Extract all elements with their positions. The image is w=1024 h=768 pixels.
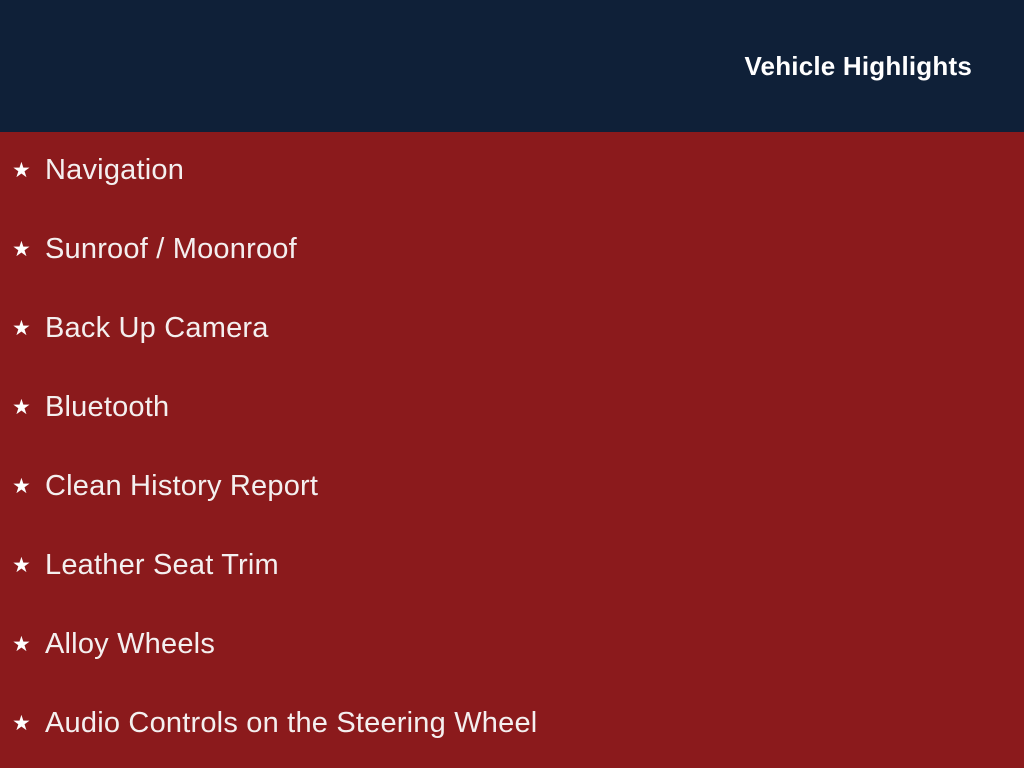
list-item: ★ Back Up Camera <box>0 308 1024 348</box>
star-icon: ★ <box>12 160 30 181</box>
star-icon: ★ <box>12 239 30 260</box>
vehicle-highlights-list: ★ Navigation ★ Sunroof / Moonroof ★ Back… <box>0 132 1024 768</box>
highlight-label: Leather Seat Trim <box>45 550 279 580</box>
highlight-label: Audio Controls on the Steering Wheel <box>45 708 537 738</box>
list-item: ★ Navigation <box>0 150 1024 190</box>
star-icon: ★ <box>12 318 30 339</box>
list-item: ★ Clean History Report <box>0 466 1024 506</box>
star-icon: ★ <box>12 555 30 576</box>
highlight-label: Clean History Report <box>45 471 318 501</box>
star-icon: ★ <box>12 713 30 734</box>
page-title: Vehicle Highlights <box>744 53 972 79</box>
list-item: ★ Audio Controls on the Steering Wheel <box>0 703 1024 743</box>
list-item: ★ Sunroof / Moonroof <box>0 229 1024 269</box>
slide-header: Vehicle Highlights <box>0 0 1024 132</box>
list-item: ★ Leather Seat Trim <box>0 545 1024 585</box>
star-icon: ★ <box>12 476 30 497</box>
list-item: ★ Bluetooth <box>0 387 1024 427</box>
highlight-label: Sunroof / Moonroof <box>45 234 297 264</box>
highlight-label: Bluetooth <box>45 392 169 422</box>
star-icon: ★ <box>12 634 30 655</box>
highlight-label: Alloy Wheels <box>45 629 215 659</box>
vehicle-highlights-slide: Vehicle Highlights ★ Navigation ★ Sunroo… <box>0 0 1024 768</box>
highlight-label: Back Up Camera <box>45 313 269 343</box>
list-item: ★ Alloy Wheels <box>0 624 1024 664</box>
star-icon: ★ <box>12 397 30 418</box>
highlight-label: Navigation <box>45 155 184 185</box>
